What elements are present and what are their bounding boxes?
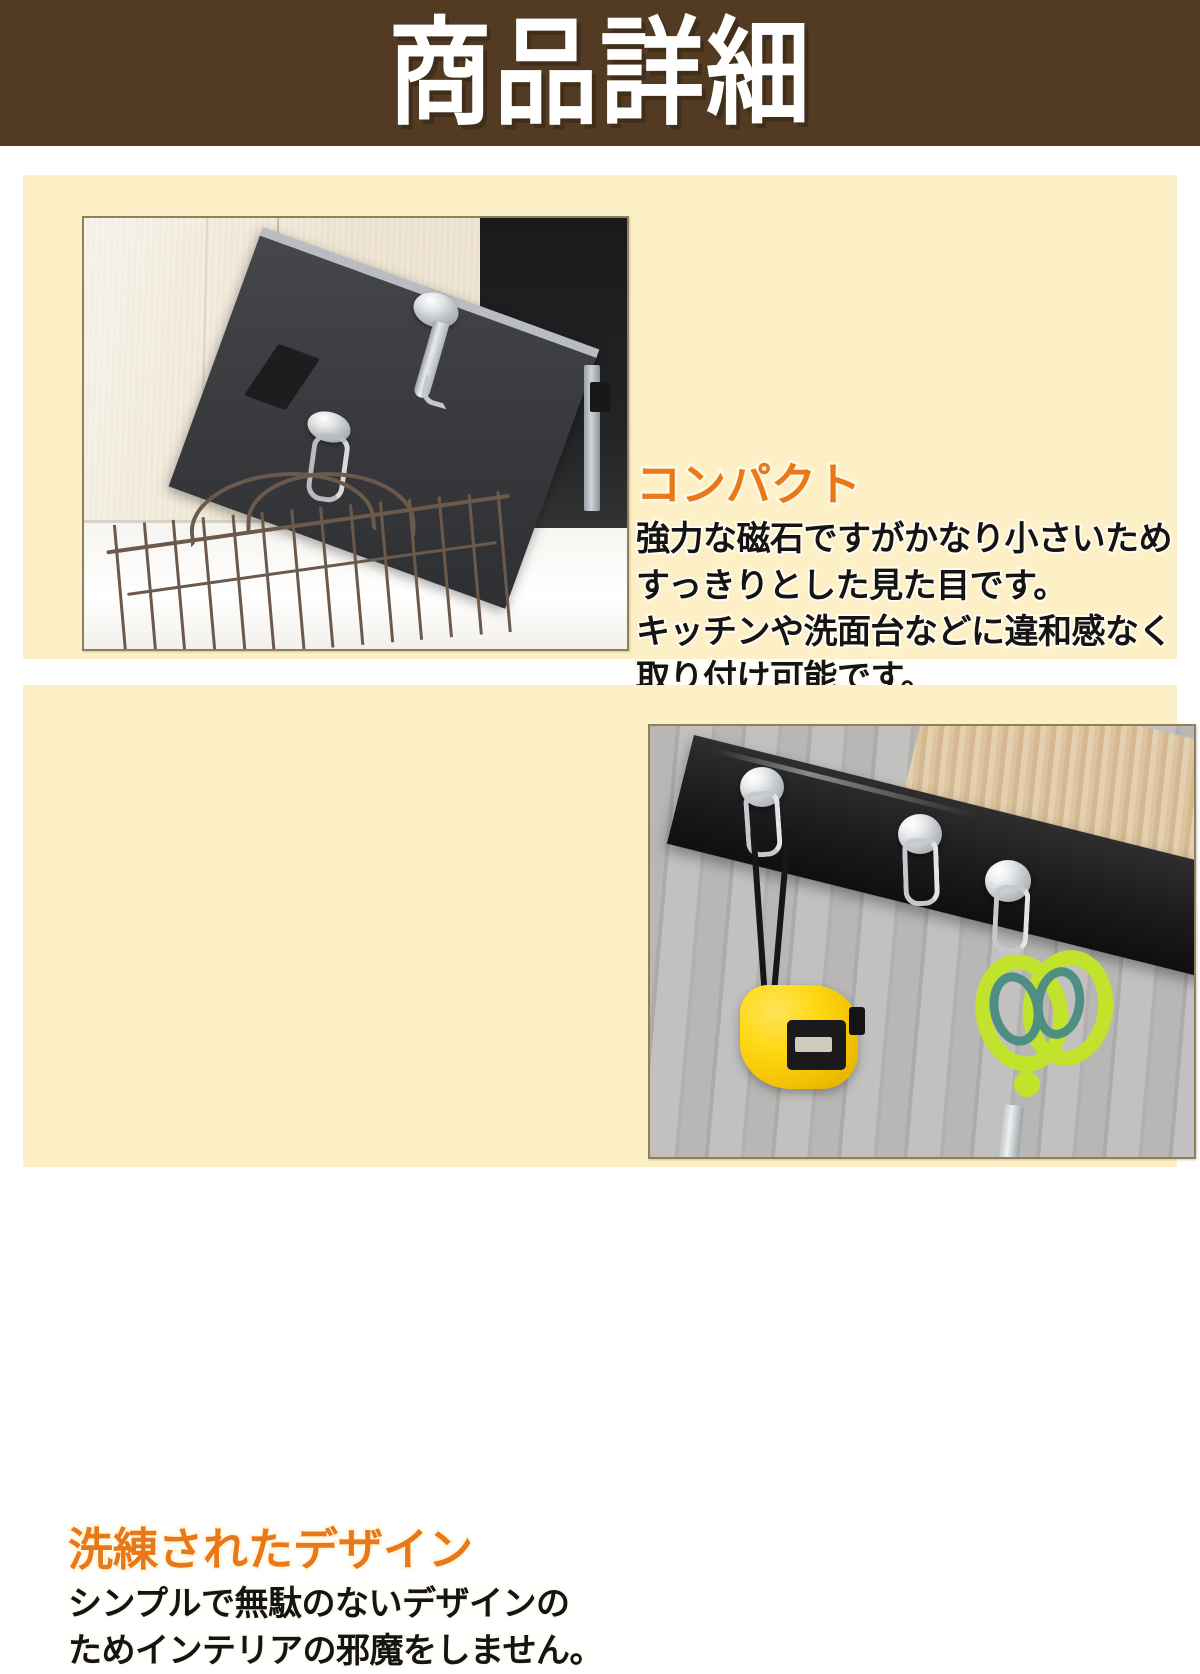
feature-body-line: キッチンや洗面台などに違和感なく (636, 609, 1181, 655)
feature-heading-refined-design: 洗練されたデザイン (68, 1525, 613, 1575)
photo-desk-edge-hooks-art (650, 726, 1194, 1157)
photo-cabinet-magnet-hook-art (84, 218, 627, 649)
feature-body-compact: 強力な磁石ですがかなり小さいため すっきりとした見た目です。 キッチンや洗面台な… (636, 516, 1181, 701)
feature-body-line: シンプルで無駄のないデザインの (68, 1581, 613, 1627)
basket-wire (113, 525, 128, 651)
feature-text-refined-design: 洗練されたデザイン シンプルで無駄のないデザインの ためインテリアの邪魔をしませ… (68, 1525, 613, 1674)
basket-wire (408, 499, 423, 640)
basket-wire (438, 496, 453, 637)
tape-measure (740, 985, 858, 1089)
feature-body-refined-design: シンプルで無駄のないデザインの ためインテリアの邪魔をしません。 (68, 1581, 613, 1673)
carabiner-hook-1 (743, 789, 784, 857)
carabiner-hook-2 (902, 837, 940, 906)
feature-body-line: 強力な磁石ですがかなり小さいため (636, 516, 1181, 562)
feature-body-line: ためインテリアの邪魔をしません。 (68, 1628, 613, 1674)
photo-cabinet-magnet-hook (82, 216, 629, 651)
basket-wire (143, 522, 158, 651)
feature-text-compact: コンパクト 強力な磁石ですがかなり小さいため すっきりとした見た目です。 キッチ… (636, 460, 1181, 701)
basket-wire (497, 491, 512, 632)
page-title: 商品詳細 (388, 15, 812, 131)
cabinet-rail-clip (590, 382, 610, 412)
photo-desk-edge-hooks (648, 724, 1196, 1159)
tape-measure-window (787, 1020, 846, 1070)
carabiner-hook-3 (991, 885, 1031, 955)
page-header-band: 商品詳細 (0, 0, 1200, 146)
feature-body-line: すっきりとした見た目です。 (636, 563, 1181, 609)
feature-panel-compact: コンパクト 強力な磁石ですがかなり小さいため すっきりとした見た目です。 キッチ… (23, 175, 1177, 659)
feature-heading-compact: コンパクト (636, 460, 1181, 510)
feature-panel-refined-design: 洗練されたデザイン シンプルで無駄のないデザインの ためインテリアの邪魔をしませ… (23, 685, 1177, 1167)
basket-wire (468, 494, 483, 635)
tape-measure-blade-slot (795, 1037, 832, 1052)
tape-measure-clip (849, 1007, 865, 1035)
